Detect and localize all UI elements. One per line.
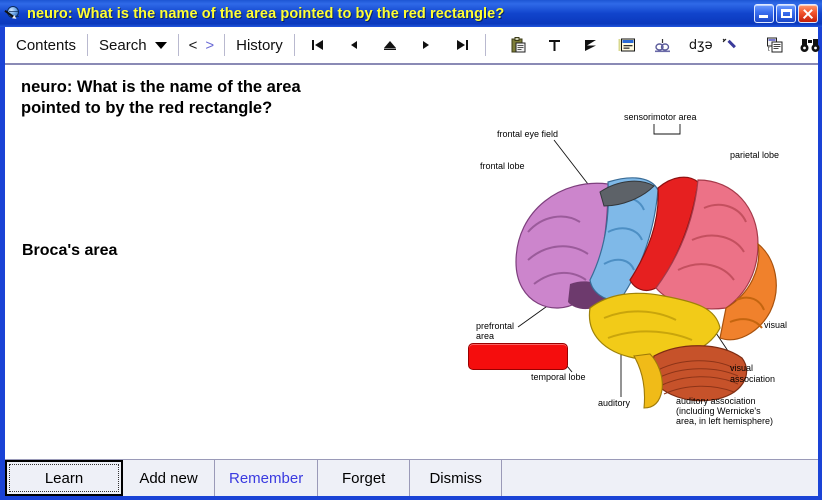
label-temporal-lobe: temporal lobe	[531, 372, 586, 383]
question-line-1: neuro: What is the name of the area	[21, 77, 441, 98]
brain-lateral-view-diagram: sensorimotor area frontal eye field pari…	[458, 112, 818, 412]
maximize-button[interactable]	[776, 4, 796, 23]
label-frontal-eye-field: frontal eye field	[497, 129, 558, 140]
button-bar: Learn Add new Remember Forget Dismiss	[5, 459, 818, 496]
find-binoculars-icon[interactable]	[798, 32, 822, 58]
text-template-icon[interactable]	[542, 32, 568, 58]
dismiss-button-label: Dismiss	[429, 470, 482, 487]
forget-button-label: Forget	[342, 470, 385, 487]
learn-button[interactable]: Learn	[5, 460, 123, 496]
close-button[interactable]	[798, 4, 818, 23]
paste-clipboard-icon[interactable]	[506, 32, 532, 58]
magic-wand-icon[interactable]	[716, 32, 742, 58]
button-bar-filler	[502, 460, 818, 496]
question-text: neuro: What is the name of the area poin…	[21, 77, 441, 119]
previous-item-icon[interactable]	[341, 32, 367, 58]
label-visual-association-line2: association	[730, 374, 775, 385]
phonetic-transcription-icon[interactable]: dʒə	[686, 32, 716, 58]
remember-button[interactable]: Remember	[215, 460, 318, 496]
duplicate-document-icon[interactable]: t	[762, 32, 788, 58]
search-button[interactable]: Search	[88, 32, 178, 58]
label-auditory-association-line2: (including Wernicke's	[676, 406, 761, 417]
label-auditory-association-line1: auditory association	[676, 396, 756, 407]
back-button[interactable]: <	[179, 37, 202, 54]
sort-icon[interactable]	[578, 32, 604, 58]
globe-pen-icon	[4, 5, 22, 23]
contents-button[interactable]: Contents	[5, 32, 87, 58]
window-label-icon[interactable]	[614, 32, 640, 58]
search-label: Search	[99, 37, 147, 54]
phonetic-glyph: dʒə	[689, 38, 713, 53]
first-item-icon[interactable]	[305, 32, 331, 58]
last-item-icon[interactable]	[449, 32, 475, 58]
answer-text: Broca's area	[22, 242, 117, 260]
label-frontal-lobe: frontal lobe	[480, 161, 525, 172]
chevron-down-icon[interactable]	[155, 42, 167, 49]
red-rectangle-highlight	[468, 343, 568, 370]
toolbar-separator	[485, 34, 486, 56]
window-controls	[754, 4, 818, 23]
application-window: neuro: What is the name of the area poin…	[0, 0, 822, 500]
focus-ring	[9, 464, 119, 492]
title-bar[interactable]: neuro: What is the name of the area poin…	[0, 0, 822, 27]
label-prefrontal-area-line1: prefrontal	[476, 321, 514, 332]
parent-item-icon[interactable]	[377, 32, 403, 58]
label-visual: visual	[764, 320, 787, 331]
remember-button-label: Remember	[229, 470, 303, 487]
add-new-button[interactable]: Add new	[123, 460, 215, 496]
label-prefrontal-area-line2: area	[476, 331, 494, 342]
window-title: neuro: What is the name of the area poin…	[27, 6, 754, 22]
content-area[interactable]: neuro: What is the name of the area poin…	[5, 65, 818, 459]
forward-button[interactable]: >	[201, 37, 224, 54]
label-visual-association-line1: visual	[730, 363, 753, 374]
toolbar-separator	[294, 34, 295, 56]
label-auditory-association-line3: area, in left hemisphere)	[676, 416, 773, 427]
dismiss-button[interactable]: Dismiss	[410, 460, 502, 496]
svg-text:t: t	[768, 47, 770, 53]
minimize-button[interactable]	[754, 4, 774, 23]
label-auditory: auditory	[598, 398, 630, 409]
question-line-2: pointed to by the red rectangle?	[21, 98, 441, 119]
next-item-icon[interactable]	[413, 32, 439, 58]
add-new-button-label: Add new	[139, 470, 197, 487]
link-reference-icon[interactable]	[650, 32, 676, 58]
toolbar: Contents Search < > History	[5, 27, 818, 65]
history-button[interactable]: History	[225, 32, 294, 58]
label-sensorimotor-area: sensorimotor area	[624, 112, 697, 123]
label-parietal-lobe: parietal lobe	[730, 150, 779, 161]
forget-button[interactable]: Forget	[318, 460, 410, 496]
